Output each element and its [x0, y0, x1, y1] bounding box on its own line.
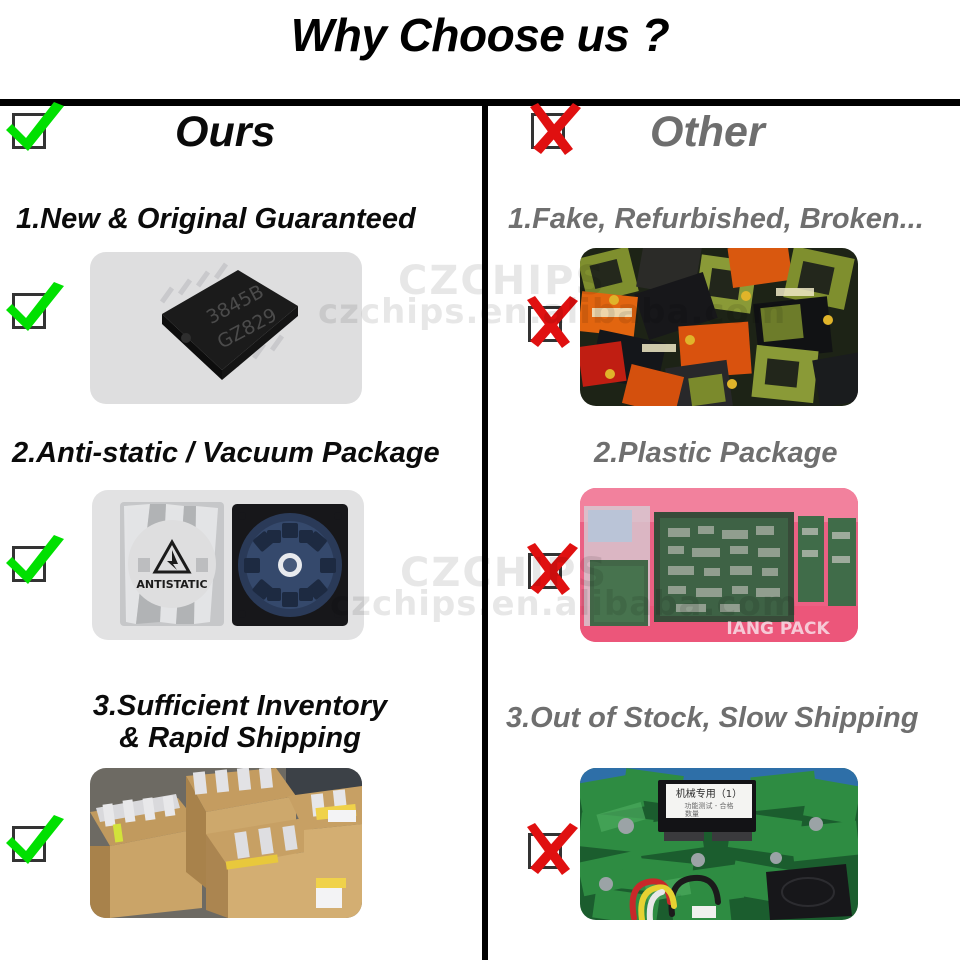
- vertical-divider: [482, 99, 488, 960]
- warehouse-boxes-photo: [90, 768, 362, 918]
- check-icon: [2, 97, 72, 161]
- svg-text:功能测试 - 合格: 功能测试 - 合格: [685, 801, 734, 810]
- row-2-right-heading: 2.Plastic Package: [594, 437, 837, 469]
- check-icon: [2, 810, 72, 874]
- check-mark-row-3: [8, 818, 50, 864]
- cross-mark-header-right: [527, 105, 569, 151]
- check-icon: [2, 530, 72, 594]
- cross-mark-row-3: [524, 825, 566, 871]
- svg-text:机械专用（1）: 机械专用（1）: [676, 787, 742, 800]
- scrap-chip-pile-photo: [580, 248, 858, 406]
- svg-text:ANTISTATIC: ANTISTATIC: [136, 578, 207, 591]
- cross-icon: [518, 537, 588, 601]
- check-mark-row-2: [8, 538, 50, 584]
- horizontal-divider: [0, 99, 960, 106]
- antistatic-bag-and-reel-photo: ANTISTATIC: [92, 490, 364, 640]
- check-mark-header-left: [8, 105, 50, 151]
- row-3-right-heading: 3.Out of Stock, Slow Shipping: [506, 702, 918, 734]
- soic-chip-photo: 3845B GZ829: [90, 252, 362, 404]
- cross-icon: [518, 290, 588, 354]
- check-mark-row-1: [8, 285, 50, 331]
- pack-overlay-text: IANG PACK: [726, 619, 830, 639]
- cross-mark-row-2: [524, 545, 566, 591]
- cross-icon: [518, 817, 588, 881]
- page-title: Why Choose us ?: [0, 8, 960, 62]
- cross-icon: [521, 97, 591, 161]
- row-1-left-heading: 1.New & Original Guaranteed: [16, 203, 416, 235]
- pink-plastic-bag-pcb-photo: IANG PACK: [580, 488, 858, 642]
- svg-text:数量: 数量: [685, 809, 699, 818]
- column-header-ours: Ours: [175, 108, 275, 157]
- row-3-left-heading: 3.Sufficient Inventory & Rapid Shipping: [60, 690, 420, 755]
- cross-mark-row-1: [524, 298, 566, 344]
- check-icon: [2, 277, 72, 341]
- column-header-other: Other: [650, 108, 765, 157]
- row-2-left-heading: 2.Anti-static / Vacuum Package: [12, 437, 440, 469]
- row-1-right-heading: 1.Fake, Refurbished, Broken...: [508, 203, 924, 235]
- pcb-scrap-heap-photo: 机械专用（1） 功能测试 - 合格 数量: [580, 768, 858, 920]
- why-choose-us-infographic: Why Choose us ? Ours Other 1.New & Origi…: [0, 0, 960, 960]
